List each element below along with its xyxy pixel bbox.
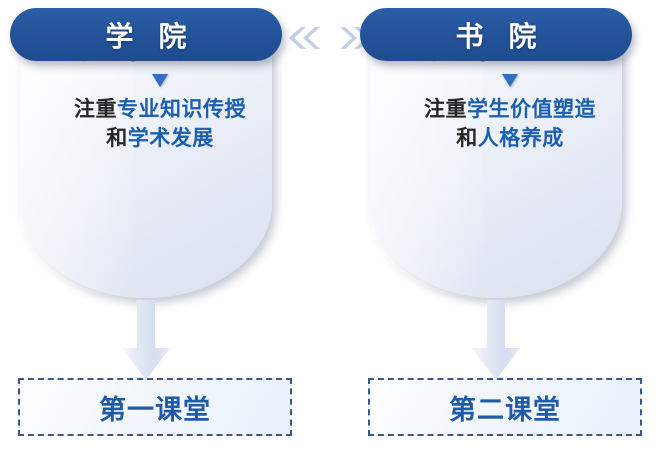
column-residential-college: 书 院 关注学生“成人” 注重学生价值塑造 和人格养成	[360, 0, 660, 450]
detail-highlight: 学术发展	[128, 126, 214, 150]
detail-line-residential-college-2: 和人格养成	[360, 124, 660, 153]
divider-row-residential-college	[360, 67, 660, 95]
detail-plain: 注重	[424, 97, 467, 121]
outcome-label: 第一课堂	[99, 388, 211, 427]
detail-plain: 注重	[74, 97, 117, 121]
detail-line-residential-college-1: 注重学生价值塑造	[360, 95, 660, 124]
outcome-box-second-classroom[interactable]: 第二课堂	[368, 378, 642, 436]
detail-plain: 和	[456, 126, 478, 150]
outcome-label: 第二课堂	[449, 388, 561, 427]
detail-highlight: 人格养成	[478, 126, 564, 150]
arrow-down-icon	[121, 300, 171, 382]
triangle-down-icon	[152, 74, 168, 87]
arrow-down-icon	[471, 300, 521, 382]
column-academy: 学 院 关注学生“成才” 注重专业知识传授 和学术发展	[10, 0, 310, 450]
outcome-box-first-classroom[interactable]: 第一课堂	[18, 378, 292, 436]
detail-line-academy-1: 注重专业知识传授	[10, 95, 310, 124]
header-pill-label: 书 院	[446, 15, 545, 55]
diagram-canvas: 学 院 关注学生“成才” 注重专业知识传授 和学术发展	[0, 0, 660, 450]
detail-highlight: 专业知识传授	[117, 97, 246, 121]
header-pill-academy[interactable]: 学 院	[10, 8, 282, 61]
header-pill-label: 学 院	[96, 15, 195, 55]
header-pill-residential-college[interactable]: 书 院	[360, 8, 632, 61]
chevron-double-left-icon	[285, 25, 321, 51]
triangle-down-icon	[502, 74, 518, 87]
detail-line-academy-2: 和学术发展	[10, 124, 310, 153]
divider-row-academy	[10, 67, 310, 95]
detail-plain: 和	[106, 126, 128, 150]
detail-highlight: 学生价值塑造	[467, 97, 596, 121]
